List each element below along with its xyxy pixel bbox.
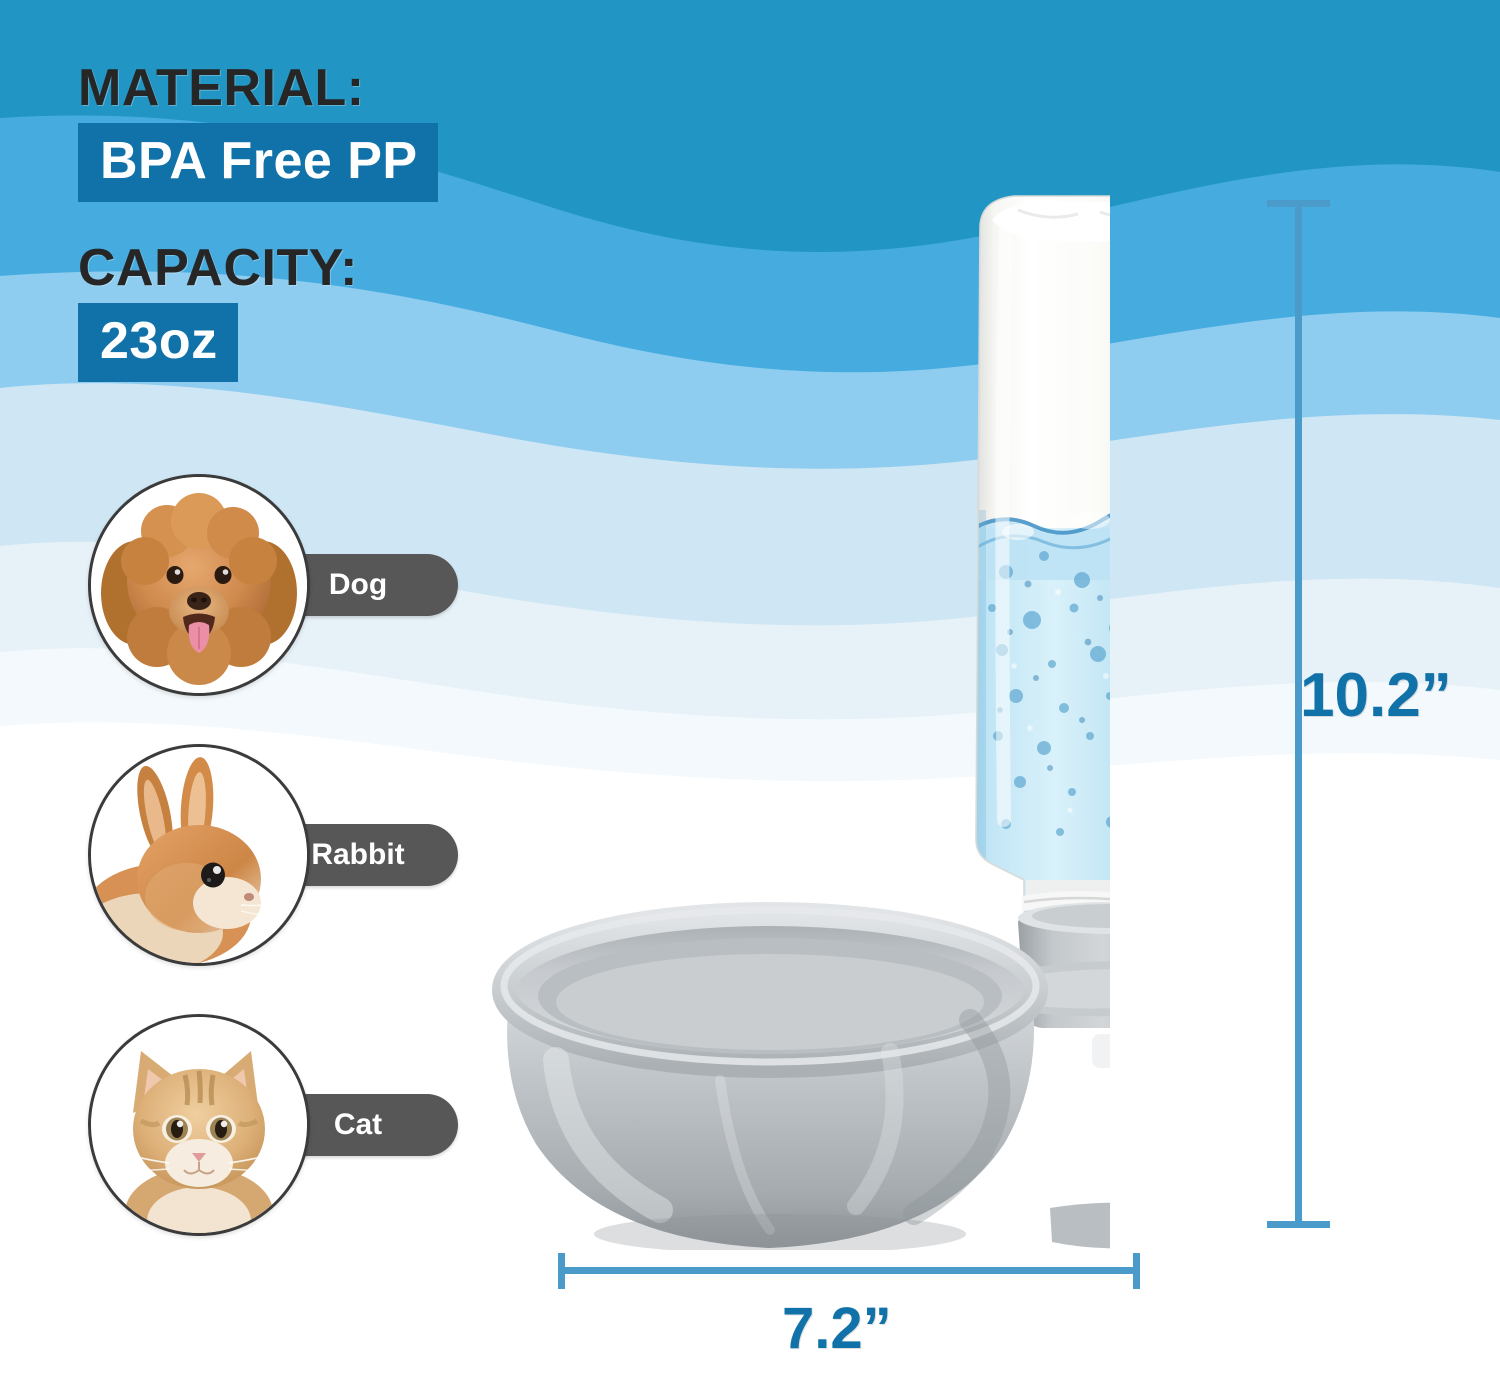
feeding-bowl	[504, 910, 1036, 1250]
width-dimension-label: 7.2”	[782, 1295, 892, 1362]
material-value-badge: BPA Free PP	[78, 123, 438, 202]
product-image	[470, 180, 1110, 1250]
width-dimension-line	[558, 1267, 1140, 1274]
height-dimension-label: 10.2”	[1300, 660, 1452, 731]
pet-label-rabbit-text: Rabbit	[311, 838, 404, 872]
pet-row-dog: Dog	[88, 474, 458, 696]
pet-row-rabbit: Rabbit	[88, 744, 458, 966]
width-dimension-tick-right	[1133, 1253, 1140, 1289]
height-dimension-tick-bottom	[1267, 1221, 1330, 1228]
pet-label-dog-text: Dog	[329, 568, 387, 602]
rabbit-photo-icon	[88, 744, 310, 966]
water-bottle	[960, 196, 1110, 930]
material-heading: MATERIAL:	[78, 62, 718, 114]
pet-row-cat: Cat	[88, 1014, 458, 1236]
dog-photo-icon	[88, 474, 310, 696]
cat-photo-icon	[88, 1014, 310, 1236]
height-dimension-tick-top	[1267, 200, 1330, 207]
capacity-value-badge: 23oz	[78, 303, 238, 382]
pet-label-cat-text: Cat	[334, 1108, 382, 1142]
width-dimension-tick-left	[558, 1253, 565, 1289]
infographic-canvas: MATERIAL: BPA Free PP CAPACITY: 23oz	[0, 0, 1500, 1377]
